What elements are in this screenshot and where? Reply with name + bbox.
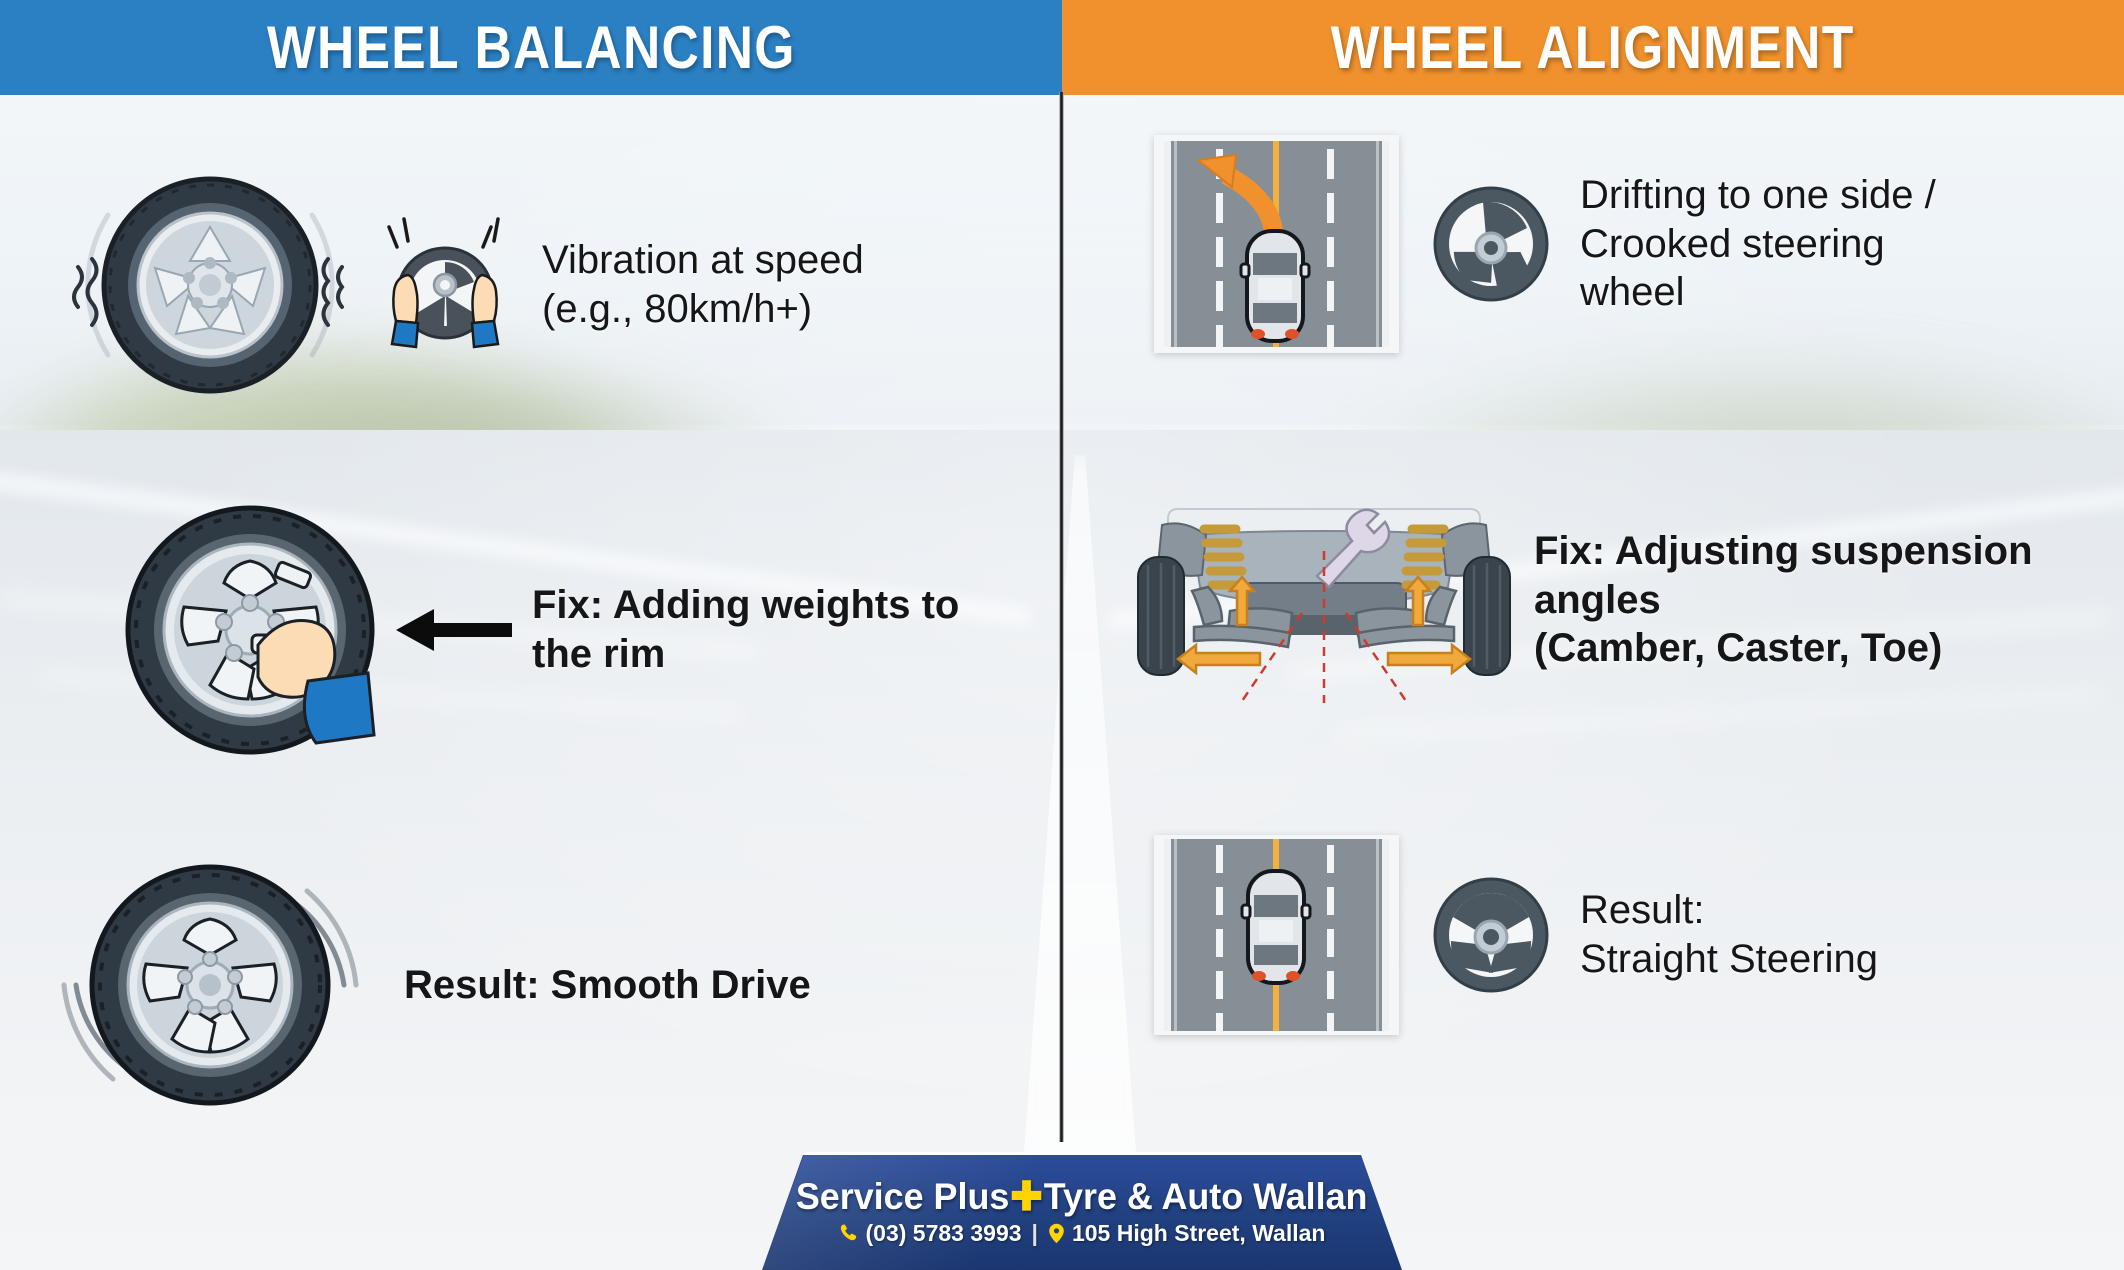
footer-brand: Service Plus ✚ Tyre & Auto Wallan: [796, 1176, 1368, 1218]
row-text-line2: (e.g., 80km/h+): [542, 285, 864, 334]
header-wheel-balancing: WHEEL BALANCING: [0, 0, 1062, 95]
row-fix-adjusting-suspension: Fix: Adjusting suspension angles (Camber…: [1134, 495, 2033, 705]
plus-icon: ✚: [1011, 1177, 1044, 1217]
row-result-smooth-drive: Result: Smooth Drive: [60, 835, 811, 1135]
suspension-alignment-icon: [1134, 495, 1514, 705]
footer-brand-part2: Tyre & Auto Wallan: [1044, 1176, 1368, 1218]
phone-icon: [839, 1223, 859, 1243]
footer-address: 105 High Street, Wallan: [1072, 1220, 1326, 1247]
road-car-drifting-icon: [1154, 135, 1399, 353]
column-wheel-balancing: Vibration at speed (e.g., 80km/h+): [0, 95, 1060, 1145]
row-text-drifting: Drifting to one side / Crooked steering …: [1580, 171, 1936, 317]
row-text-line2: Crooked steering: [1580, 220, 1936, 269]
wheel-with-hand-weight-icon: [110, 485, 400, 775]
row-text-line1: Fix: Adjusting suspension: [1534, 527, 2033, 576]
row-text-line2: Straight Steering: [1580, 935, 1878, 984]
row-text-line1: Vibration at speed: [542, 236, 864, 285]
row-text-line1: Result:: [1580, 886, 1878, 935]
steering-wheel-crooked-icon: [1429, 182, 1554, 307]
infographic-root: WHEEL BALANCING WHEEL ALIGNMENT: [0, 0, 2124, 1270]
steering-wheel-hands-icon: [370, 215, 520, 355]
footer-banner: Service Plus ✚ Tyre & Auto Wallan (03) 5…: [762, 1152, 1402, 1270]
row-text-line2: the rim: [532, 630, 959, 679]
row-text-line3: wheel: [1580, 268, 1936, 317]
row-text-fix-suspension: Fix: Adjusting suspension angles (Camber…: [1534, 527, 2033, 673]
footer-brand-part1: Service Plus: [796, 1176, 1009, 1218]
row-text-line2: angles: [1534, 576, 2033, 625]
row-drifting-to-one-side: Drifting to one side / Crooked steering …: [1154, 135, 1936, 353]
row-text-vibration: Vibration at speed (e.g., 80km/h+): [542, 236, 864, 334]
column-wheel-alignment: Drifting to one side / Crooked steering …: [1064, 95, 2124, 1145]
row-text-result-smooth: Result: Smooth Drive: [404, 961, 811, 1010]
row-text-line1: Fix: Adding weights to: [532, 581, 959, 630]
row-text-line1: Result: Smooth Drive: [404, 961, 811, 1010]
road-car-straight-icon: [1154, 835, 1399, 1035]
footer-contact: (03) 5783 3993 | 105 High Street, Wallan: [839, 1220, 1326, 1247]
footer-phone: (03) 5783 3993: [866, 1220, 1022, 1247]
row-result-straight-steering: Result: Straight Steering: [1154, 835, 1878, 1035]
steering-wheel-straight-icon: [1429, 873, 1554, 998]
vibrating-wheel-icon: [60, 135, 360, 435]
spinning-wheel-icon: [60, 835, 360, 1135]
row-vibration-at-speed: Vibration at speed (e.g., 80km/h+): [60, 135, 864, 435]
left-arrow-icon: [394, 602, 514, 658]
header-left-title: WHEEL BALANCING: [267, 13, 796, 82]
map-pin-icon: [1048, 1223, 1065, 1244]
row-text-line3: (Camber, Caster, Toe): [1534, 624, 2033, 673]
header-wheel-alignment: WHEEL ALIGNMENT: [1062, 0, 2124, 95]
row-text-line1: Drifting to one side /: [1580, 171, 1936, 220]
footer-separator: |: [1032, 1220, 1038, 1247]
row-text-result-straight: Result: Straight Steering: [1580, 886, 1878, 984]
header-right-title: WHEEL ALIGNMENT: [1331, 13, 1855, 82]
row-text-fix-weights: Fix: Adding weights to the rim: [532, 581, 959, 679]
row-fix-adding-weights: Fix: Adding weights to the rim: [110, 485, 959, 775]
